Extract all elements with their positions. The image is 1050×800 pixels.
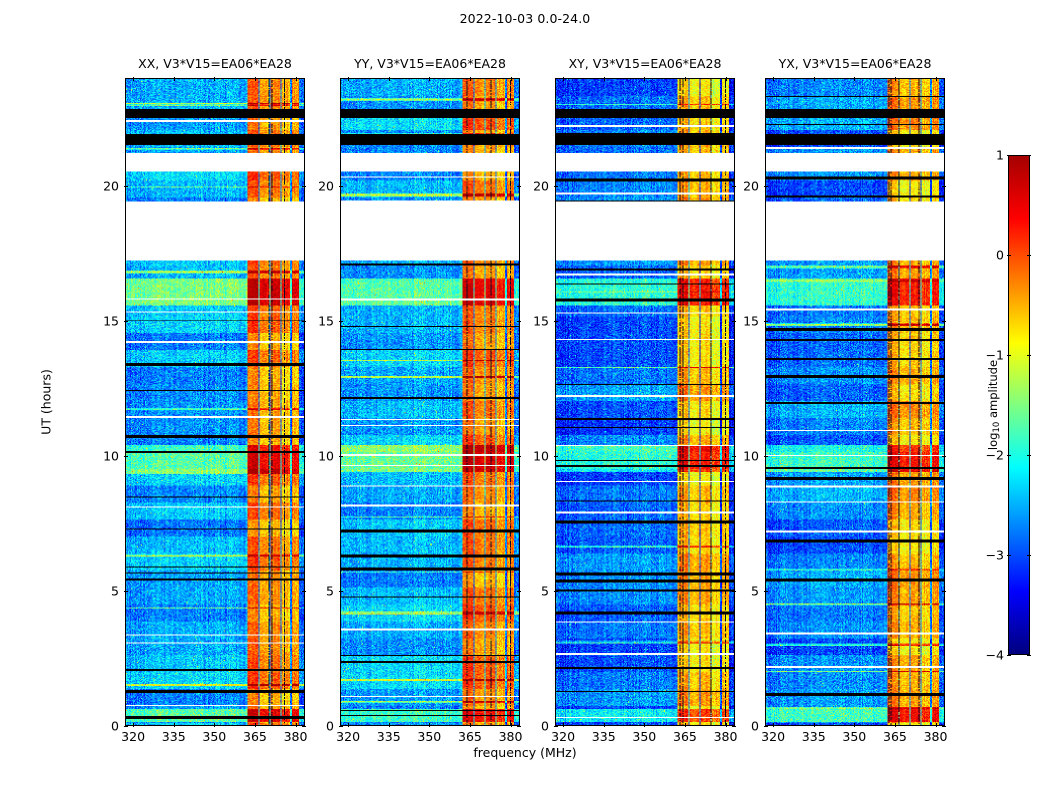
x-tick-label: 335 xyxy=(592,729,616,744)
y-tick xyxy=(764,186,768,187)
x-tick xyxy=(296,723,297,727)
y-tick xyxy=(764,456,768,457)
colorbar-tick xyxy=(1027,455,1031,456)
panel-xx: XX, V3*V15=EA06*EA2832033535036538005101… xyxy=(125,78,305,726)
y-tick-label: 0 xyxy=(751,719,759,734)
x-tick xyxy=(348,723,349,727)
y-tick xyxy=(942,456,946,457)
plot-area-xy[interactable] xyxy=(555,78,735,726)
y-tick xyxy=(732,186,736,187)
plot-area-yy[interactable] xyxy=(340,78,520,726)
colorbar-tick xyxy=(1007,155,1011,156)
y-tick xyxy=(124,726,128,727)
x-tick xyxy=(296,77,297,81)
y-tick xyxy=(339,726,343,727)
y-tick xyxy=(302,591,306,592)
colorbar-tick xyxy=(1027,155,1031,156)
x-tick xyxy=(429,77,430,81)
x-tick xyxy=(604,77,605,81)
y-tick-label: 5 xyxy=(541,584,549,599)
x-tick-label: 350 xyxy=(632,729,656,744)
waterfall-image-yy xyxy=(341,79,519,725)
x-tick-label: 350 xyxy=(842,729,866,744)
colorbar-tick xyxy=(1027,555,1031,556)
colorbar: 10−1−2−3−4 xyxy=(1008,155,1030,655)
x-axis-label: frequency (MHz) xyxy=(0,745,1050,760)
x-tick xyxy=(726,723,727,727)
y-tick-label: 15 xyxy=(743,314,759,329)
y-tick-label: 10 xyxy=(743,449,759,464)
y-tick xyxy=(302,321,306,322)
y-tick xyxy=(732,456,736,457)
figure-suptitle: 2022-10-03 0.0-24.0 xyxy=(0,11,1050,26)
colorbar-tick xyxy=(1007,255,1011,256)
y-tick xyxy=(554,591,558,592)
x-tick-label: 350 xyxy=(202,729,226,744)
y-tick-label: 0 xyxy=(111,719,119,734)
y-tick xyxy=(942,726,946,727)
x-tick-label: 365 xyxy=(673,729,697,744)
x-tick xyxy=(726,77,727,81)
colorbar-label-subscript: 10 xyxy=(992,422,1002,433)
colorbar-label-base: log xyxy=(986,433,1000,451)
x-tick xyxy=(214,77,215,81)
y-tick xyxy=(517,591,521,592)
y-tick xyxy=(732,726,736,727)
y-tick xyxy=(554,186,558,187)
x-tick xyxy=(854,723,855,727)
colorbar-tick-label: −3 xyxy=(986,548,1004,563)
colorbar-tick-label: 1 xyxy=(996,148,1004,163)
colorbar-tick xyxy=(1027,355,1031,356)
x-tick xyxy=(511,723,512,727)
y-tick xyxy=(764,726,768,727)
y-tick xyxy=(517,186,521,187)
y-tick-label: 20 xyxy=(533,179,549,194)
colorbar-tick xyxy=(1007,355,1011,356)
x-tick xyxy=(348,77,349,81)
x-tick-label: 320 xyxy=(551,729,575,744)
x-tick xyxy=(133,723,134,727)
x-tick xyxy=(389,77,390,81)
y-tick xyxy=(554,726,558,727)
y-tick xyxy=(302,456,306,457)
x-tick xyxy=(685,723,686,727)
y-tick xyxy=(124,321,128,322)
y-tick-label: 20 xyxy=(743,179,759,194)
y-tick xyxy=(124,456,128,457)
x-tick xyxy=(214,723,215,727)
x-tick xyxy=(133,77,134,81)
x-tick xyxy=(429,723,430,727)
x-tick-label: 320 xyxy=(336,729,360,744)
y-tick-label: 5 xyxy=(751,584,759,599)
y-tick xyxy=(764,591,768,592)
colorbar-tick xyxy=(1007,455,1011,456)
panel-title-yx: YX, V3*V15=EA06*EA28 xyxy=(779,56,932,71)
x-tick xyxy=(854,77,855,81)
y-tick xyxy=(124,591,128,592)
panel-title-xx: XX, V3*V15=EA06*EA28 xyxy=(138,56,292,71)
colorbar-tick xyxy=(1027,255,1031,256)
plot-area-xx[interactable] xyxy=(125,78,305,726)
y-tick xyxy=(942,591,946,592)
colorbar-tick xyxy=(1007,655,1011,656)
x-tick xyxy=(895,77,896,81)
x-tick-label: 350 xyxy=(417,729,441,744)
y-tick xyxy=(554,321,558,322)
y-tick-label: 10 xyxy=(533,449,549,464)
colorbar-tick-label: −4 xyxy=(986,648,1004,663)
figure-canvas: 2022-10-03 0.0-24.0 XX, V3*V15=EA06*EA28… xyxy=(0,0,1050,800)
panel-xy: XY, V3*V15=EA06*EA2832033535036538005101… xyxy=(555,78,735,726)
waterfall-image-xy xyxy=(556,79,734,725)
x-tick xyxy=(470,77,471,81)
x-tick xyxy=(814,723,815,727)
y-tick xyxy=(554,456,558,457)
x-tick xyxy=(936,77,937,81)
x-tick xyxy=(773,723,774,727)
waterfall-image-yx xyxy=(766,79,944,725)
y-axis-label: UT (hours) xyxy=(39,369,54,435)
y-tick xyxy=(732,321,736,322)
y-tick xyxy=(942,321,946,322)
y-tick-label: 0 xyxy=(326,719,334,734)
y-tick xyxy=(339,321,343,322)
colorbar-tick-label: 0 xyxy=(996,248,1004,263)
y-tick-label: 15 xyxy=(533,314,549,329)
panel-title-xy: XY, V3*V15=EA06*EA28 xyxy=(569,56,722,71)
waterfall-image-xx xyxy=(126,79,304,725)
x-tick-label: 335 xyxy=(162,729,186,744)
x-tick-label: 380 xyxy=(499,729,523,744)
y-tick xyxy=(339,591,343,592)
x-tick xyxy=(174,723,175,727)
x-tick-label: 335 xyxy=(377,729,401,744)
y-tick xyxy=(302,186,306,187)
x-tick-label: 365 xyxy=(458,729,482,744)
colorbar-gradient xyxy=(1008,155,1030,655)
x-tick xyxy=(563,723,564,727)
x-tick xyxy=(389,723,390,727)
x-tick-label: 335 xyxy=(802,729,826,744)
x-tick-label: 320 xyxy=(121,729,145,744)
y-tick-label: 20 xyxy=(103,179,119,194)
x-tick xyxy=(174,77,175,81)
y-tick-label: 10 xyxy=(103,449,119,464)
y-tick xyxy=(517,321,521,322)
panel-yy: YY, V3*V15=EA06*EA2832033535036538005101… xyxy=(340,78,520,726)
y-tick-label: 0 xyxy=(541,719,549,734)
x-tick xyxy=(604,723,605,727)
x-tick xyxy=(644,77,645,81)
x-tick xyxy=(936,723,937,727)
colorbar-tick xyxy=(1007,555,1011,556)
x-tick xyxy=(470,723,471,727)
x-tick-label: 380 xyxy=(714,729,738,744)
x-tick xyxy=(895,723,896,727)
x-tick xyxy=(255,723,256,727)
x-tick xyxy=(255,77,256,81)
x-tick-label: 365 xyxy=(883,729,907,744)
y-tick xyxy=(942,186,946,187)
colorbar-label: log10 amplitude xyxy=(986,360,1000,450)
y-tick-label: 20 xyxy=(318,179,334,194)
panel-yx: YX, V3*V15=EA06*EA2832033535036538005101… xyxy=(765,78,945,726)
y-tick-label: 10 xyxy=(318,449,334,464)
x-tick xyxy=(685,77,686,81)
y-tick-label: 5 xyxy=(111,584,119,599)
x-tick-label: 365 xyxy=(243,729,267,744)
x-tick xyxy=(814,77,815,81)
y-tick-label: 5 xyxy=(326,584,334,599)
y-tick xyxy=(339,186,343,187)
x-tick xyxy=(511,77,512,81)
y-tick-label: 15 xyxy=(318,314,334,329)
y-tick-label: 15 xyxy=(103,314,119,329)
y-tick xyxy=(517,726,521,727)
panel-title-yy: YY, V3*V15=EA06*EA28 xyxy=(354,56,506,71)
colorbar-tick xyxy=(1027,655,1031,656)
colorbar-label-rest: amplitude xyxy=(986,360,1000,422)
y-tick xyxy=(339,456,343,457)
y-tick xyxy=(124,186,128,187)
x-tick-label: 320 xyxy=(761,729,785,744)
x-tick-label: 380 xyxy=(924,729,948,744)
plot-area-yx[interactable] xyxy=(765,78,945,726)
y-tick xyxy=(302,726,306,727)
y-tick xyxy=(732,591,736,592)
x-tick xyxy=(773,77,774,81)
x-tick xyxy=(563,77,564,81)
x-tick-label: 380 xyxy=(284,729,308,744)
x-tick xyxy=(644,723,645,727)
y-tick xyxy=(764,321,768,322)
y-tick xyxy=(517,456,521,457)
